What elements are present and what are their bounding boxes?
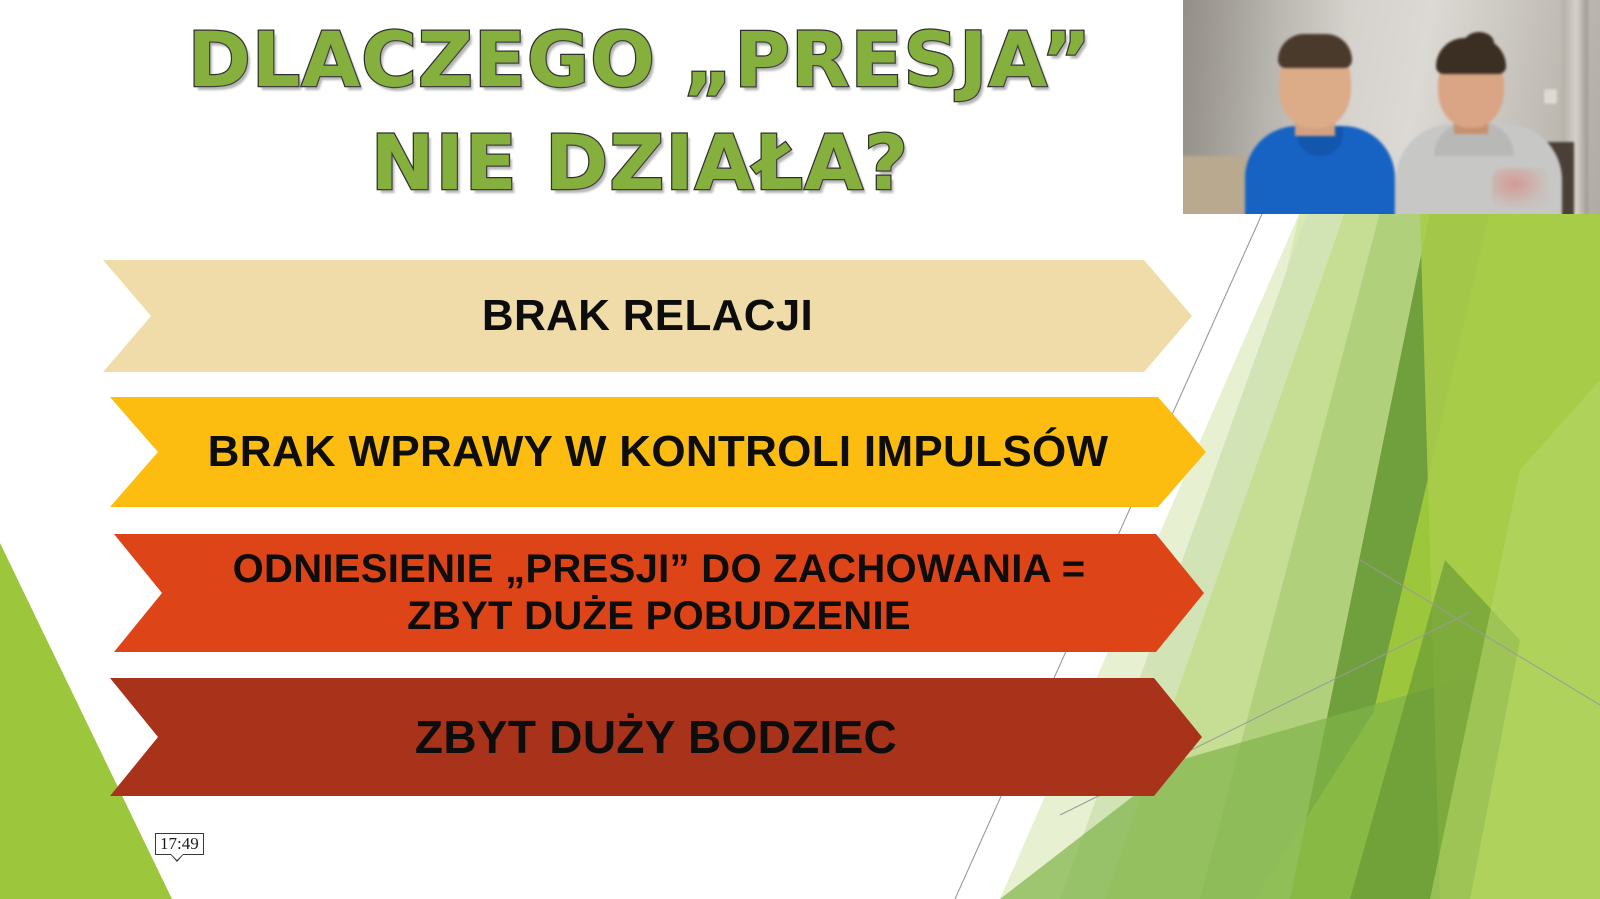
facet-shape-mid-green (1330, 212, 1600, 899)
chevron-banner-1-label: BRAK RELACJI (412, 290, 883, 342)
facet-shape-dark-accent (1350, 560, 1520, 899)
facet-hairline-2 (1360, 560, 1600, 705)
chevron-banner-3[interactable]: ODNIESIENIE „PRESJI” DO ZACHOWANIA = ZBY… (114, 534, 1204, 652)
facet-shape-bright-right (1420, 212, 1600, 899)
chevron-banner-2-label: BRAK WPRAWY W KONTROLI IMPULSÓW (138, 426, 1179, 478)
facet-shape-left-wedge (0, 545, 170, 899)
slide-stage: DLACZEGO „PRESJA” NIE DZIAŁA? BRAK RELAC… (0, 0, 1600, 899)
slide-title: DLACZEGO „PRESJA” NIE DZIAŁA? (100, 8, 1180, 215)
time-tooltip: 17:49 (155, 833, 204, 855)
chevron-banner-3-label: ODNIESIENIE „PRESJI” DO ZACHOWANIA = ZBY… (114, 546, 1204, 640)
chevron-banner-4[interactable]: ZBYT DUŻY BODZIEC (110, 678, 1202, 796)
webcam-pip[interactable] (1183, 0, 1600, 214)
webcam-video-softening (1183, 0, 1600, 214)
chevron-banner-4-label: ZBYT DUŻY BODZIEC (345, 710, 967, 764)
facet-shape-base-right (1140, 212, 1600, 899)
chevron-banner-2[interactable]: BRAK WPRAWY W KONTROLI IMPULSÓW (110, 397, 1206, 507)
chevron-banner-1[interactable]: BRAK RELACJI (103, 260, 1192, 372)
facet-shape-soft-overlay (1430, 380, 1600, 899)
